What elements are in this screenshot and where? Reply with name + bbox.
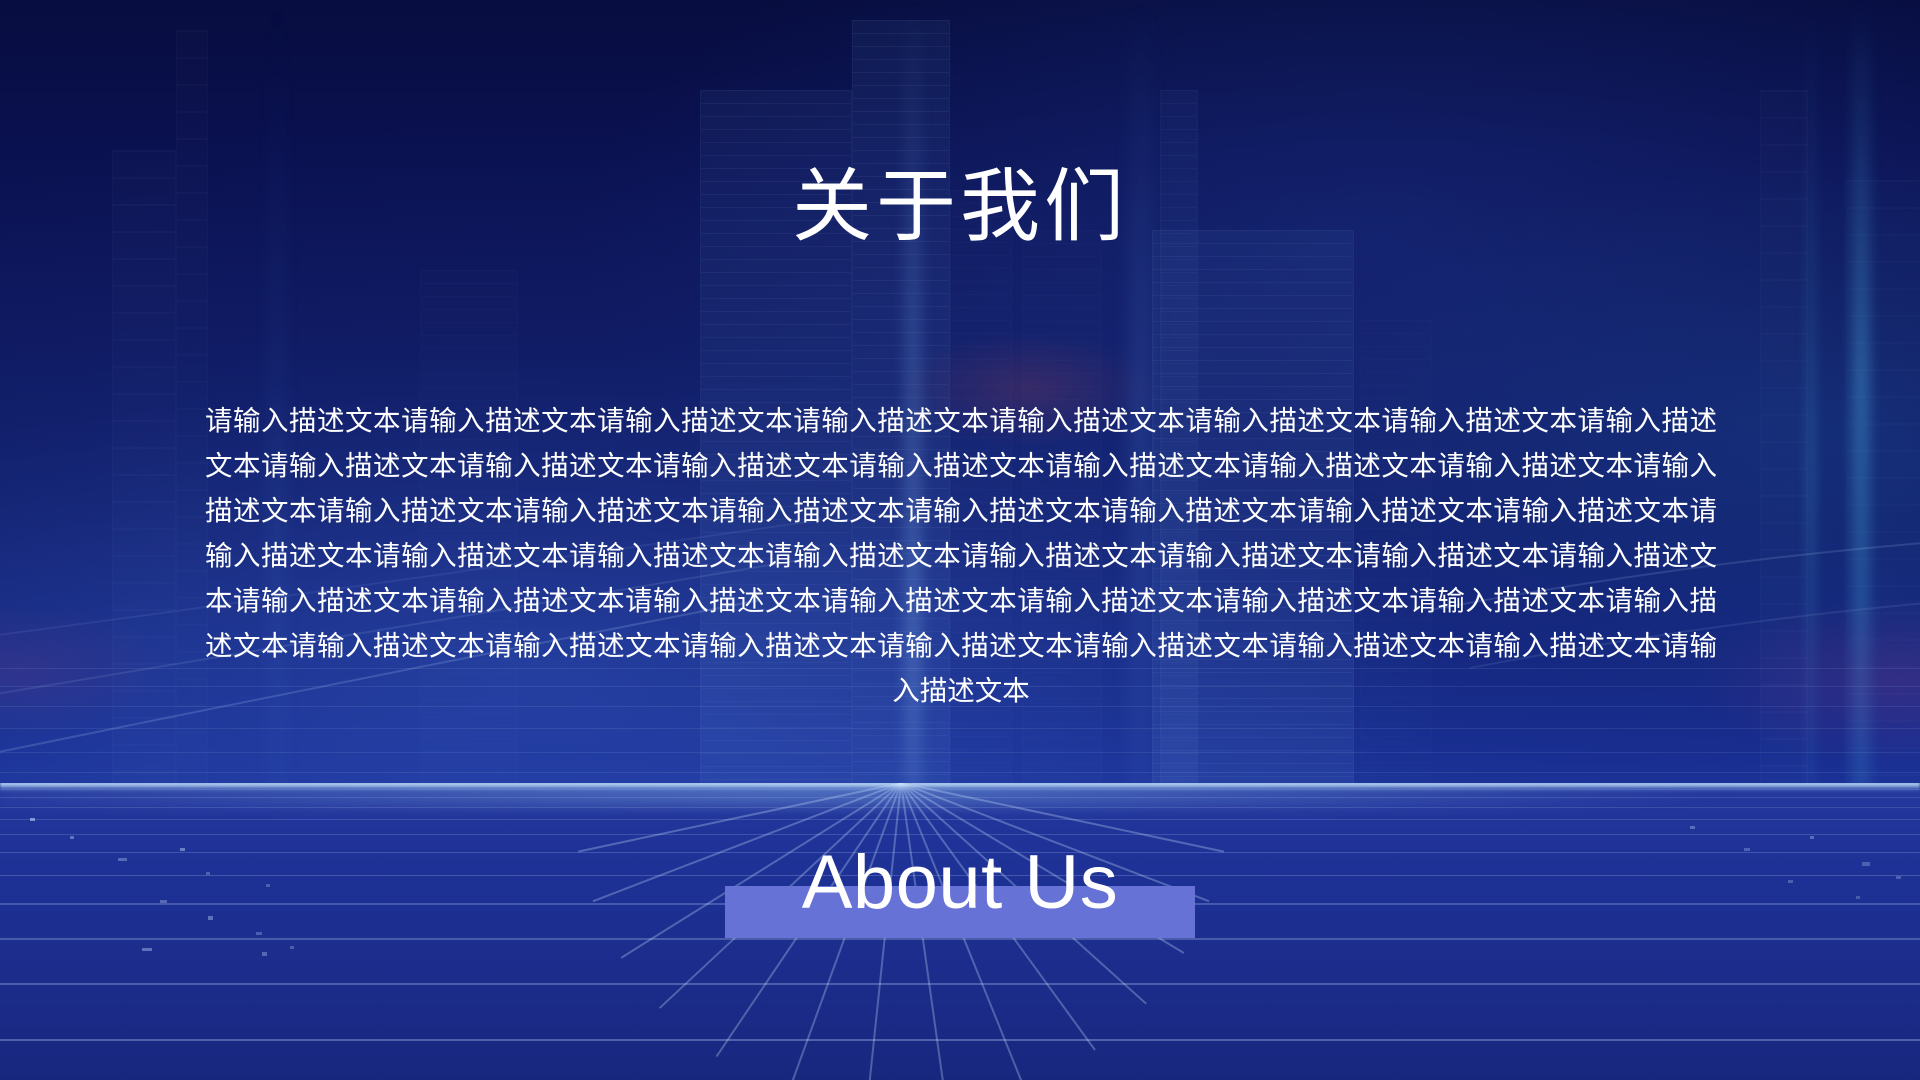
horizon-line bbox=[0, 783, 1920, 793]
slide-canvas: 关于我们 请输入描述文本请输入描述文本请输入描述文本请输入描述文本请输入描述文本… bbox=[0, 0, 1920, 1080]
subtitle-english: About Us bbox=[0, 840, 1920, 926]
description-text: 请输入描述文本请输入描述文本请输入描述文本请输入描述文本请输入描述文本请输入描述… bbox=[205, 398, 1717, 713]
page-title: 关于我们 bbox=[0, 168, 1920, 248]
about-us-banner: About Us bbox=[0, 840, 1920, 950]
